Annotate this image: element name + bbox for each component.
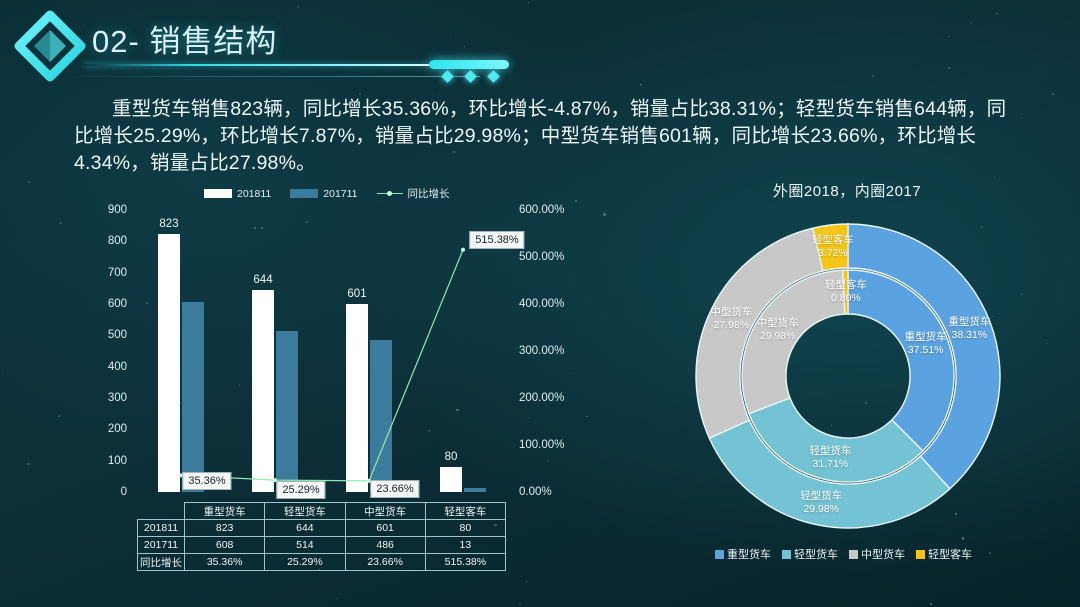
table-row-header-1: 201711 <box>138 537 185 554</box>
table-cell-2-2: 23.66% <box>345 554 425 571</box>
y-tick-0: 0 <box>121 486 127 498</box>
donut-label-outer-1: 轻型货车29.98% <box>800 490 842 516</box>
donut-label-outer-3: 轻型客车3.72% <box>812 234 854 260</box>
growth-callout-2: 23.66% <box>370 480 419 498</box>
table-row-header-2: 同比增长 <box>138 554 185 571</box>
y-tick-100: 100 <box>108 455 127 467</box>
table-cell-0-3: 80 <box>425 520 505 537</box>
legend-swatch-201811 <box>204 189 232 198</box>
donut-legend-item-2: 中型货车 <box>849 546 905 562</box>
donut-chart-title: 外圈2018，内圈2017 <box>624 180 1070 201</box>
donut-chart-panel: 外圈2018，内圈2017 重型货车38.31%轻型货车29.98%中型货车27… <box>624 180 1070 580</box>
header-diamond-icon-1 <box>441 70 454 83</box>
y-tick-400: 400 <box>108 361 127 373</box>
y2-tick-600: 600.00% <box>519 204 564 216</box>
donut-legend-label-1: 轻型货车 <box>794 546 838 562</box>
y2-tick-200: 200.00% <box>519 392 564 404</box>
donut-legend-swatch-0 <box>715 550 724 559</box>
bar-chart-legend: 201811 201711 同比增长 <box>204 186 462 201</box>
legend-swatch-201711 <box>290 189 318 198</box>
donut-legend-swatch-1 <box>782 550 791 559</box>
diamond-logo-icon <box>14 10 86 82</box>
donut-legend-item-3: 轻型客车 <box>916 546 972 562</box>
slide-header: 02- 销售结构 <box>0 0 1080 92</box>
legend-label-growth: 同比增长 <box>408 186 450 201</box>
bar-value-label-1: 644 <box>253 274 272 286</box>
legend-swatch-growth-line <box>377 189 403 198</box>
y-tick-500: 500 <box>108 329 127 341</box>
table-cell-0-2: 601 <box>345 520 425 537</box>
table-cell-0-0: 823 <box>185 520 265 537</box>
legend-item-201711: 201711 <box>290 188 357 200</box>
table-row: 同比增长35.36%25.29%23.66%515.38% <box>138 554 506 571</box>
donut-legend-label-2: 中型货车 <box>861 546 905 562</box>
donut-chart-graphic: 重型货车38.31%轻型货车29.98%中型货车27.98%轻型客车3.72%重… <box>688 216 1008 536</box>
bar-201711-0 <box>182 302 204 493</box>
y2-tick-300: 300.00% <box>519 345 564 357</box>
donut-legend-item-0: 重型货车 <box>715 546 771 562</box>
table-row: 20181182364460180 <box>138 520 506 537</box>
header-diamond-icon-2 <box>464 70 477 83</box>
y2-tick-400: 400.00% <box>519 298 564 310</box>
title-underline <box>84 64 430 66</box>
growth-callout-1: 25.29% <box>276 481 325 499</box>
legend-label-201711: 201711 <box>323 188 357 200</box>
table-cell-1-2: 486 <box>345 537 425 554</box>
table-col-header-0: 重型货车 <box>185 503 265 520</box>
donut-legend-item-1: 轻型货车 <box>782 546 838 562</box>
donut-legend-label-0: 重型货车 <box>727 546 771 562</box>
table-col-header-3: 轻型客车 <box>425 503 505 520</box>
donut-label-inner-2: 中型货车29.98% <box>757 317 799 343</box>
donut-chart-legend: 重型货车轻型货车中型货车轻型客车 <box>624 546 1070 562</box>
donut-label-outer-2: 中型货车27.98% <box>710 306 752 332</box>
header-accent-bar <box>429 60 509 69</box>
bar-201711-1 <box>276 331 298 492</box>
y2-tick-500: 500.00% <box>519 251 564 263</box>
donut-legend-swatch-3 <box>916 550 925 559</box>
bar-201811-3 <box>440 467 462 492</box>
bar-201811-2 <box>346 304 368 492</box>
y-tick-600: 600 <box>108 298 127 310</box>
y-tick-300: 300 <box>108 392 127 404</box>
donut-label-inner-3: 轻型客车0.80% <box>825 279 867 305</box>
bar-chart-data-table: 重型货车轻型货车中型货车轻型客车201811823644601802017116… <box>137 502 506 571</box>
bar-chart-plot-area: 900 800 700 600 500 400 300 200 100 0 60… <box>134 210 510 492</box>
table-cell-1-3: 13 <box>425 537 505 554</box>
y-tick-800: 800 <box>108 235 127 247</box>
table-cell-2-0: 35.36% <box>185 554 265 571</box>
title-underline-soft <box>60 76 480 77</box>
donut-legend-label-3: 轻型客车 <box>928 546 972 562</box>
table-cell-2-1: 25.29% <box>265 554 345 571</box>
bar-201711-3 <box>464 488 486 492</box>
donut-label-inner-0: 重型货车37.51% <box>905 331 947 357</box>
bar-201811-1 <box>252 290 274 492</box>
table-col-header-1: 轻型货车 <box>265 503 345 520</box>
table-row: 20171160851448613 <box>138 537 506 554</box>
table-header-row: 重型货车轻型货车中型货车轻型客车 <box>138 503 506 520</box>
table-col-header-2: 中型货车 <box>345 503 425 520</box>
header-diamond-icon-3 <box>487 70 500 83</box>
bar-201811-0 <box>158 234 180 492</box>
y2-tick-0: 0.00% <box>519 486 552 498</box>
bar-value-label-3: 80 <box>445 451 458 463</box>
legend-label-201811: 201811 <box>237 188 271 200</box>
table-cell-1-0: 608 <box>185 537 265 554</box>
growth-callout-3: 515.38% <box>469 231 524 249</box>
table-cell-2-3: 515.38% <box>425 554 505 571</box>
y-tick-900: 900 <box>108 204 127 216</box>
table-row-header-0: 201811 <box>138 520 185 537</box>
donut-label-outer-0: 重型货车38.31% <box>948 316 990 342</box>
bar-value-label-0: 823 <box>159 218 178 230</box>
page-title: 02- 销售结构 <box>92 16 277 61</box>
donut-label-inner-1: 轻型货车31.71% <box>809 445 851 471</box>
growth-callout-0: 35.36% <box>182 472 231 490</box>
table-cell-0-1: 644 <box>265 520 345 537</box>
y-tick-700: 700 <box>108 267 127 279</box>
table-cell-1-1: 514 <box>265 537 345 554</box>
legend-item-201811: 201811 <box>204 188 271 200</box>
bar-value-label-2: 601 <box>347 288 366 300</box>
donut-legend-swatch-2 <box>849 550 858 559</box>
y2-tick-100: 100.00% <box>519 439 564 451</box>
slide-canvas: 02- 销售结构 重型货车销售823辆，同比增长35.36%，环比增长-4.87… <box>0 0 1080 607</box>
table-corner-cell <box>138 503 185 520</box>
summary-paragraph: 重型货车销售823辆，同比增长35.36%，环比增长-4.87%，销量占比38.… <box>74 96 1026 177</box>
legend-item-growth: 同比增长 <box>377 186 450 201</box>
bar-201711-2 <box>370 340 392 492</box>
y-tick-200: 200 <box>108 423 127 435</box>
